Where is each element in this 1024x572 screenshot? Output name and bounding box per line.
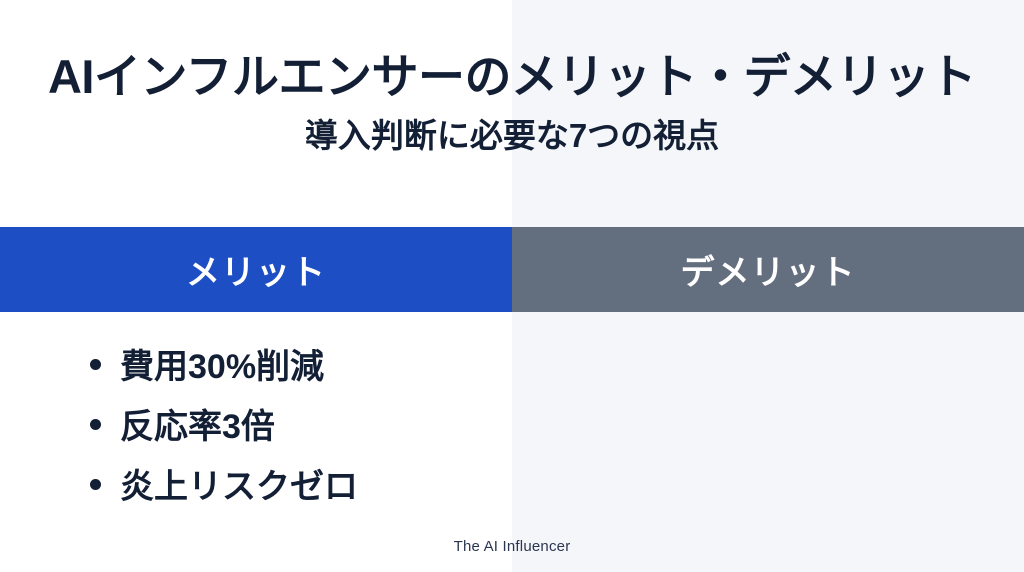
demerit-column: デメリット 信頼性の壁 法的リスク 制作の難易度 (512, 227, 1024, 572)
list-item: 炎上リスクゼロ (0, 453, 512, 513)
merit-column: メリット 費用30%削減 反応率3倍 炎上リスクゼロ (0, 227, 512, 572)
demerit-column-header: デメリット (512, 227, 1024, 312)
demerit-column-heading-label: デメリット (681, 245, 856, 294)
list-item: 反応率3倍 (0, 393, 512, 453)
list-item: 費用30%削減 (0, 333, 512, 393)
page-title: AIインフルエンサーのメリット・デメリット (0, 0, 1024, 102)
demerit-bullet-list: 信頼性の壁 法的リスク 制作の難易度 (512, 333, 1024, 513)
merit-bullet-list: 費用30%削減 反応率3倍 炎上リスクゼロ (0, 333, 512, 513)
merit-column-body: 費用30%削減 反応率3倍 炎上リスクゼロ (0, 312, 512, 572)
merit-column-header: メリット (0, 227, 512, 312)
demerit-column-body: 信頼性の壁 法的リスク 制作の難易度 (512, 312, 1024, 572)
comparison-columns: メリット 費用30%削減 反応率3倍 炎上リスクゼロ (0, 227, 1024, 572)
list-item: 制作の難易度 (512, 453, 1024, 513)
list-item-label: 費用30%削減 (120, 339, 324, 388)
slide-canvas: AIインフルエンサーのメリット・デメリット 導入判断に必要な7つの視点 メリット… (0, 0, 1024, 572)
list-item-label: 反応率3倍 (120, 399, 275, 448)
page-subtitle: 導入判断に必要な7つの視点 (0, 102, 1024, 154)
list-item: 法的リスク (512, 393, 1024, 453)
bullet-point-icon (90, 359, 101, 370)
footer-brand: The AI Influencer (0, 538, 1024, 555)
list-item: 信頼性の壁 (512, 333, 1024, 393)
bullet-point-icon (90, 419, 101, 430)
list-item-label: 炎上リスクゼロ (120, 459, 358, 508)
merit-column-heading-label: メリット (186, 245, 326, 294)
title-block: AIインフルエンサーのメリット・デメリット 導入判断に必要な7つの視点 (0, 0, 1024, 154)
bullet-point-icon (90, 479, 101, 490)
